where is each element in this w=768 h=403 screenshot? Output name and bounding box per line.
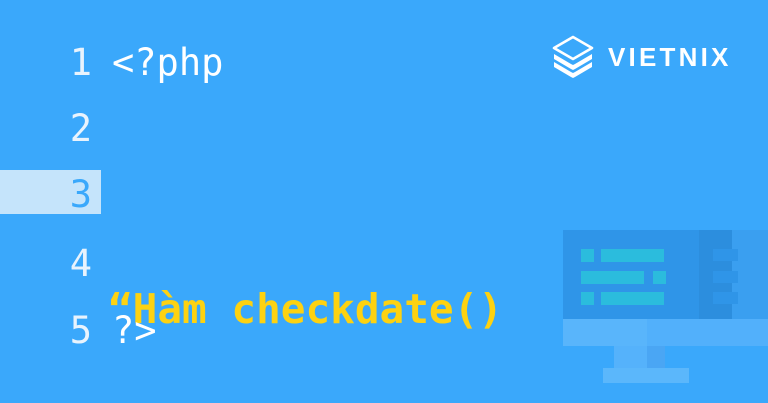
line-number-5: 5	[0, 312, 92, 349]
line-number-3: 3	[0, 176, 92, 213]
line-number-1: 1	[0, 44, 92, 81]
code-line-php-open: <?php	[112, 44, 223, 81]
code-line-php-close: ?>	[112, 312, 157, 349]
line-number-gutter: 1 2 3 4 5	[0, 0, 92, 403]
code-editor: 1 2 3 4 5 <?php “Hàm checkdate() trong P…	[0, 0, 768, 403]
line-number-2: 2	[0, 110, 92, 147]
banner: VIETNIX 1 2 3 4 5 <?php “Hàm checkdate()…	[0, 0, 768, 403]
article-title-line-1: “Hàm checkdate()	[108, 276, 503, 342]
line-number-4: 4	[0, 245, 92, 282]
article-title: “Hàm checkdate() trong PHP”	[108, 143, 503, 403]
